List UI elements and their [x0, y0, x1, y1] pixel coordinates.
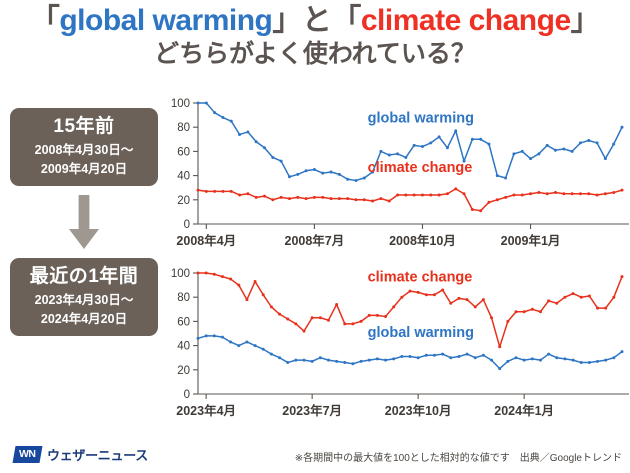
period-box-recent-year: 最近の1年間 2023年4月30日〜 2024年4月20日 — [10, 258, 158, 336]
title-segment-0: 「 — [30, 4, 60, 37]
period-date-from: 2008年4月30日〜 — [14, 142, 154, 158]
logo-mark-text: WN — [19, 446, 36, 463]
y-tick-label: 100 — [171, 268, 190, 280]
down-arrow-icon — [69, 195, 99, 249]
x-axis-ticks: 2008年4月2008年7月2008年10月2009年1月 — [176, 224, 560, 248]
series-annotation-global-warming: global warming — [368, 325, 474, 341]
y-tick-label: 100 — [171, 98, 190, 110]
y-tick-label: 80 — [177, 122, 190, 134]
series-annotation-global-warming: global warming — [368, 110, 474, 126]
logo-text: ウェザーニュース — [47, 445, 148, 464]
x-tick-label: 2009年1月 — [501, 233, 561, 248]
title-line-2: どちらがよく使われている？ — [0, 39, 630, 69]
y-tick-label: 0 — [184, 389, 190, 401]
period-date-to: 2024年4月20日 — [14, 311, 154, 327]
title-segment-2: 」と「 — [272, 4, 361, 37]
chart-recent-year: 0204060801002023年4月2023年7月2023年10月2024年1… — [168, 266, 630, 426]
title-segment-4: 」 — [571, 4, 601, 37]
arrow-container — [10, 195, 158, 249]
y-tick-label: 0 — [184, 219, 190, 231]
x-tick-label: 2008年4月 — [176, 233, 236, 248]
title-segment-3: climate change — [361, 4, 571, 37]
y-axis-ticks: 020406080100 — [171, 98, 198, 231]
x-tick-label: 2024年1月 — [494, 403, 554, 418]
y-tick-label: 60 — [177, 146, 190, 158]
page-title: 「global warming」と「climate change」 どちらがよく… — [0, 4, 630, 69]
period-column: 15年前 2008年4月30日〜 2009年4月20日 最近の1年間 2023年… — [10, 108, 158, 336]
source-note: ※各期間中の最大値を100とした相対的な値です 出典／Googleトレンド — [295, 449, 622, 464]
x-tick-label: 2023年7月 — [282, 403, 342, 418]
period-box-15-years-ago: 15年前 2008年4月30日〜 2009年4月20日 — [10, 108, 158, 186]
x-axis-ticks: 2023年4月2023年7月2023年10月2024年1月 — [176, 394, 554, 418]
y-tick-label: 80 — [177, 292, 190, 304]
x-tick-label: 2023年4月 — [176, 403, 236, 418]
period-heading: 最近の1年間 — [14, 265, 154, 289]
y-axis-ticks: 020406080100 — [171, 268, 198, 401]
chart-15-years-ago: 0204060801002008年4月2008年7月2008年10月2009年1… — [168, 96, 630, 256]
period-heading: 15年前 — [14, 115, 154, 139]
y-tick-label: 20 — [177, 365, 190, 377]
title-segment-1: global warming — [59, 4, 272, 37]
y-tick-label: 40 — [177, 171, 190, 183]
chart-svg: 0204060801002008年4月2008年7月2008年10月2009年1… — [168, 96, 630, 256]
series-climate-change — [197, 187, 624, 212]
period-date-to: 2009年4月20日 — [14, 161, 154, 177]
x-tick-label: 2023年10月 — [385, 403, 452, 418]
title-line-1: 「global warming」と「climate change」 — [0, 4, 630, 38]
wn-logo-icon: WN — [13, 446, 43, 463]
series-annotation-climate-change: climate change — [368, 269, 473, 285]
period-date-from: 2023年4月30日〜 — [14, 292, 154, 308]
x-tick-label: 2008年10月 — [389, 233, 456, 248]
weathernews-logo[interactable]: WN ウェザーニュース — [14, 445, 148, 464]
series-annotation-climate-change: climate change — [368, 160, 473, 176]
x-tick-label: 2008年7月 — [285, 233, 345, 248]
chart-svg: 0204060801002023年4月2023年7月2023年10月2024年1… — [168, 266, 630, 426]
footer: WN ウェザーニュース ※各期間中の最大値を100とした相対的な値です 出典／G… — [0, 437, 630, 473]
y-tick-label: 40 — [177, 341, 190, 353]
y-tick-label: 60 — [177, 316, 190, 328]
y-tick-label: 20 — [177, 195, 190, 207]
